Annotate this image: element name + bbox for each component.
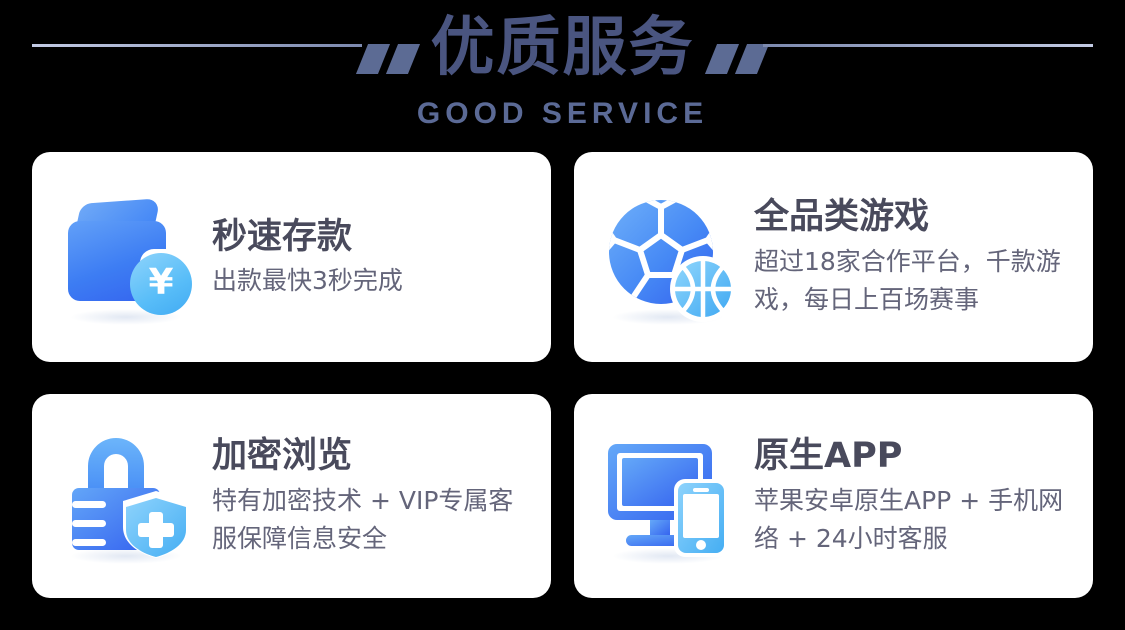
yen-coin-icon: ¥ [130,253,192,315]
banner-title-cn: 优质服务 [0,8,1125,88]
monitor-phone-icon [600,426,740,566]
basketball-icon [670,256,736,322]
card-title: 加密浏览 [212,434,533,478]
feature-card-grid: ¥ 秒速存款 出款最快3秒完成 [32,152,1093,598]
card-description: 出款最快3秒完成 [212,263,533,299]
banner-header: 优质服务 GOOD SERVICE [0,0,1125,150]
card-title: 全品类游戏 [754,195,1075,239]
lock-shield-icon [58,426,198,566]
feature-card-native-app[interactable]: 原生APP 苹果安卓原生APP + 手机网络 + 24小时客服 [574,394,1093,598]
card-text-block: 加密浏览 特有加密技术 + VIP专属客服保障信息安全 [212,434,533,558]
yen-symbol: ¥ [148,265,173,301]
card-description: 苹果安卓原生APP + 手机网络 + 24小时客服 [754,482,1075,558]
card-title: 原生APP [754,434,1075,478]
feature-card-encryption[interactable]: 加密浏览 特有加密技术 + VIP专属客服保障信息安全 [32,394,551,598]
soccer-basketball-icon [600,187,740,327]
feature-card-games[interactable]: 全品类游戏 超过18家合作平台，千款游戏，每日上百场赛事 [574,152,1093,362]
feature-card-deposit[interactable]: ¥ 秒速存款 出款最快3秒完成 [32,152,551,362]
promo-banner: 优质服务 GOOD SERVICE ¥ 秒速存款 出款最快3秒完成 [0,0,1125,630]
banner-title-en: GOOD SERVICE [0,96,1125,132]
card-text-block: 原生APP 苹果安卓原生APP + 手机网络 + 24小时客服 [754,434,1075,558]
card-text-block: 秒速存款 出款最快3秒完成 [212,215,533,299]
ball-graphic [604,195,738,323]
card-text-block: 全品类游戏 超过18家合作平台，千款游戏，每日上百场赛事 [754,195,1075,319]
lock-graphic [62,430,196,562]
device-graphic [600,436,740,558]
wallet-yen-icon: ¥ [58,187,198,327]
header-rule-right [763,44,1093,47]
card-description: 特有加密技术 + VIP专属客服保障信息安全 [212,482,533,558]
card-description: 超过18家合作平台，千款游戏，每日上百场赛事 [754,243,1075,319]
card-title: 秒速存款 [212,215,533,259]
